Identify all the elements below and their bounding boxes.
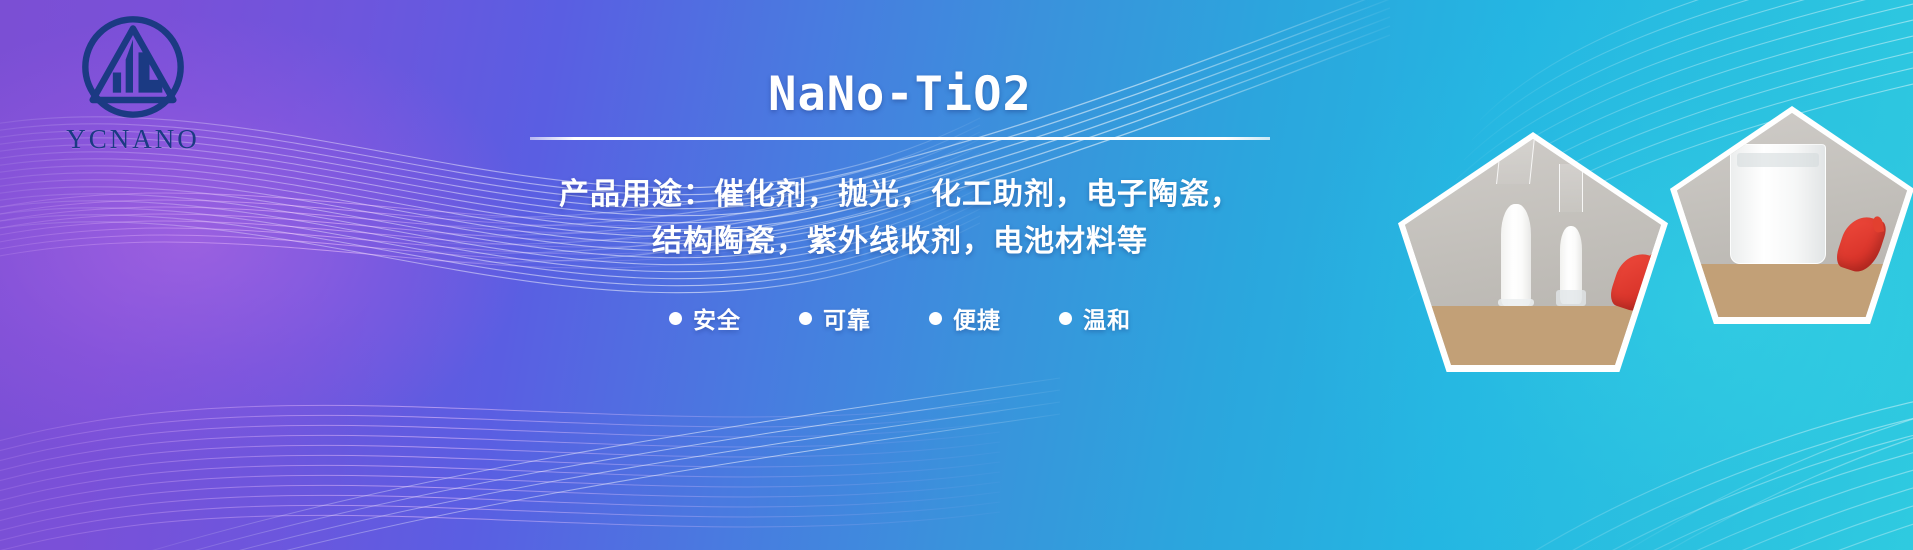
feature-item-safe: 安全 <box>669 301 741 335</box>
banner-content: NaNo-TiO2 产品用途：催化剂，抛光，化工助剂，电子陶瓷， 结构陶瓷，紫外… <box>470 70 1330 335</box>
feature-item-reliable: 可靠 <box>799 301 871 335</box>
bullet-dot-icon <box>799 312 812 325</box>
feature-list: 安全 可靠 便捷 温和 <box>470 301 1330 335</box>
ycnano-triangle-circle-logo <box>78 12 188 122</box>
feature-label: 可靠 <box>823 301 871 335</box>
feature-item-mild: 温和 <box>1059 301 1131 335</box>
pentagon-photo-beaker <box>1670 106 1913 324</box>
white-vase-short <box>1551 204 1591 306</box>
vase-base <box>1556 290 1586 306</box>
feature-label: 温和 <box>1083 301 1131 335</box>
company-logo[interactable]: YCNANO <box>48 12 218 155</box>
pentagon-photo-vases <box>1398 132 1668 372</box>
photo-inner <box>1405 139 1661 365</box>
vase-base <box>1498 299 1534 306</box>
bullet-dot-icon <box>929 312 942 325</box>
glass-beaker-white-liquid <box>1730 144 1826 264</box>
product-usage-text: 产品用途：催化剂，抛光，化工助剂，电子陶瓷， 结构陶瓷，紫外线收剂，电池材料等 <box>470 172 1330 265</box>
feature-item-convenient: 便捷 <box>929 301 1001 335</box>
feature-label: 便捷 <box>953 301 1001 335</box>
vase-body <box>1501 204 1531 306</box>
usage-line-1: 产品用途：催化剂，抛光，化工助剂，电子陶瓷， <box>470 172 1330 219</box>
photo-inner <box>1677 113 1907 317</box>
usage-line-2: 结构陶瓷，紫外线收剂，电池材料等 <box>470 219 1330 266</box>
logo-wordmark: YCNANO <box>48 124 218 155</box>
title-divider <box>530 137 1270 140</box>
white-vase-tall <box>1493 176 1539 306</box>
product-banner: YCNANO NaNo-TiO2 产品用途：催化剂，抛光，化工助剂，电子陶瓷， … <box>0 0 1913 550</box>
feature-label: 安全 <box>693 301 741 335</box>
bullet-dot-icon <box>1059 312 1072 325</box>
vase-glass-top <box>1559 164 1583 212</box>
product-title: NaNo-TiO2 <box>470 70 1330 119</box>
bullet-dot-icon <box>669 312 682 325</box>
